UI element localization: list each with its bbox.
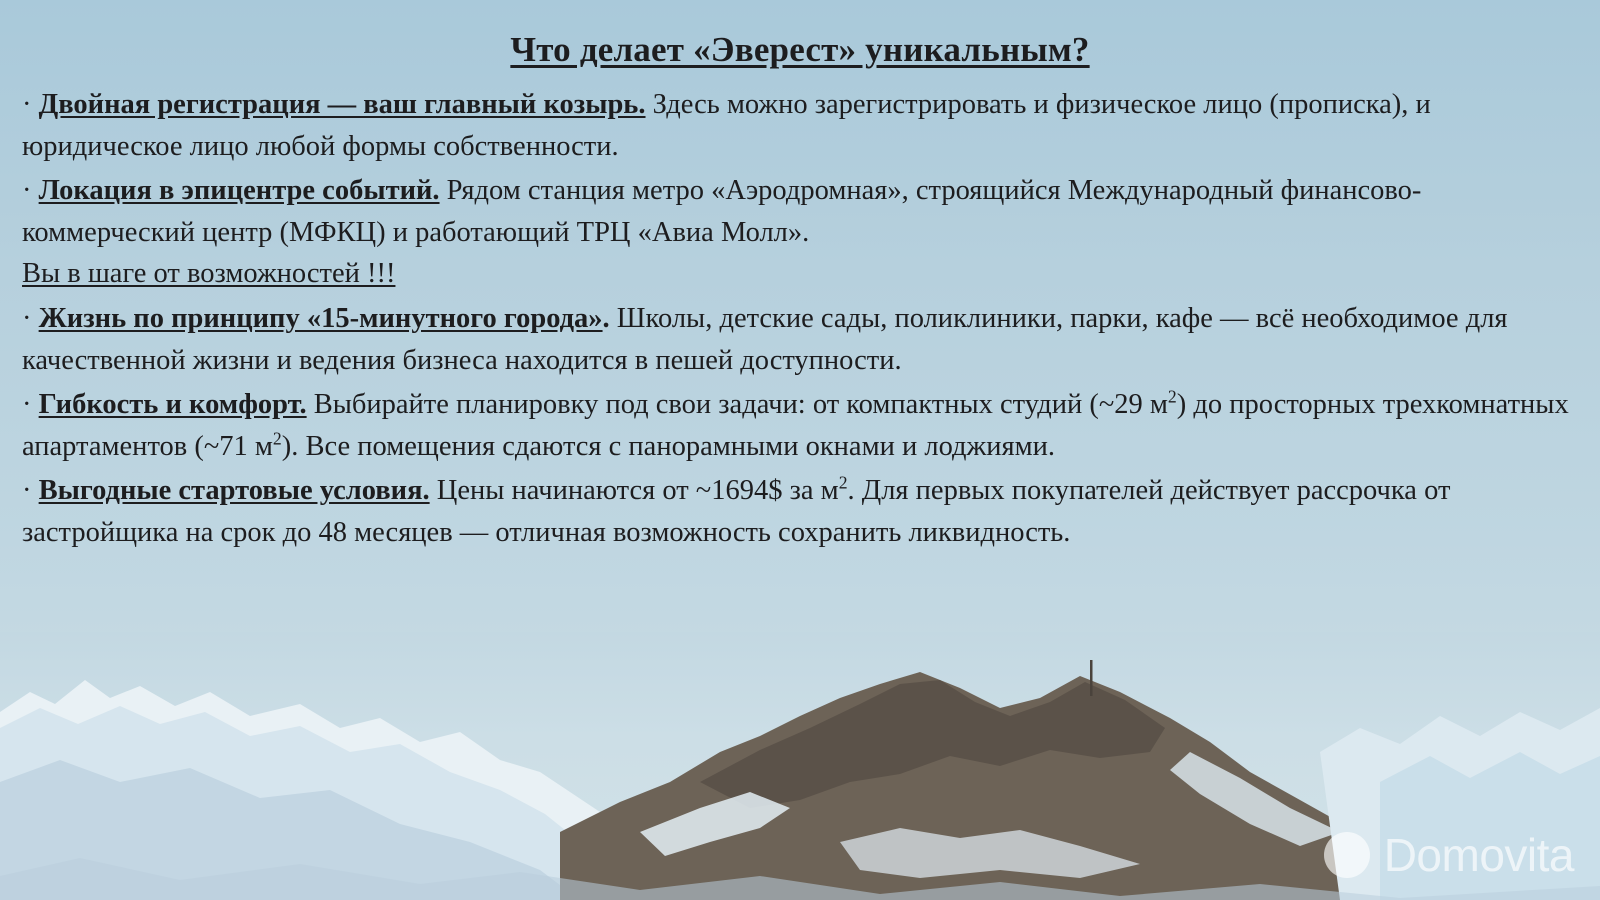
list-item-15-minute-city: · Жизнь по принципу «15-минутного города… — [22, 298, 1578, 381]
list-item-lead: Жизнь по принципу «15-минутного города» — [39, 303, 603, 334]
list-item-dual-registration: · Двойная регистрация — ваш главный козы… — [22, 84, 1578, 167]
list-item-lead: Двойная регистрация — ваш главный козырь… — [39, 89, 646, 120]
mountain-photo: Domovita — [0, 632, 1600, 900]
list-item-lead: Выгодные стартовые условия. — [39, 475, 430, 506]
bullet-marker: · — [22, 89, 32, 120]
presentation-slide: Domovita Что делает «Эверест» уникальным… — [0, 0, 1600, 900]
list-item-flexibility: · Гибкость и комфорт. Выбирайте планиров… — [22, 384, 1578, 467]
list-item-lead: Локация в эпицентре событий. — [39, 175, 440, 206]
list-item-lead: Гибкость и комфорт. — [39, 389, 307, 420]
mountain-silhouette-icon — [0, 632, 1600, 900]
square-meter-superscript: 2 — [1168, 387, 1177, 407]
bullet-marker: · — [22, 175, 32, 206]
bullet-marker: · — [22, 303, 32, 334]
list-item-location: · Локация в эпицентре событий. Рядом ста… — [22, 170, 1578, 295]
bullet-marker: · — [22, 389, 32, 420]
list-item-starting-conditions: · Выгодные стартовые условия. Цены начин… — [22, 470, 1578, 553]
list-item-emphasis: Вы в шаге от возможностей !!! — [22, 258, 395, 289]
feature-list: · Двойная регистрация — ваш главный козы… — [22, 84, 1578, 554]
slide-text-content: Что делает «Эверест» уникальным? · Двойн… — [0, 0, 1600, 557]
bullet-marker: · — [22, 475, 32, 506]
page-title: Что делает «Эверест» уникальным? — [22, 30, 1578, 70]
list-item-body-part1: Цены начинаются от ~1694$ за м — [437, 475, 839, 506]
list-item-body-part3: ). Все помещения сдаются с панорамными о… — [282, 431, 1055, 462]
square-meter-superscript: 2 — [273, 428, 282, 448]
square-meter-superscript: 2 — [839, 473, 848, 493]
list-item-lead-suffix: . — [603, 303, 610, 334]
list-item-body-part1: Выбирайте планировку под свои задачи: от… — [314, 389, 1168, 420]
